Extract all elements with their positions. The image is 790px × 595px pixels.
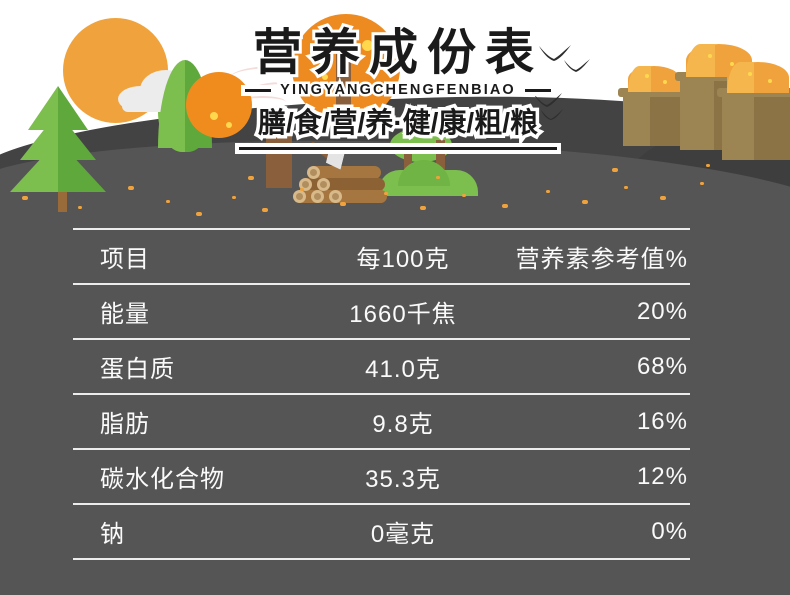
title-underline	[239, 147, 557, 150]
column-header-amount: 每100克	[303, 239, 503, 274]
row-nrv-value: 16%	[503, 408, 690, 436]
row-nrv-value: 12%	[503, 463, 690, 491]
title-slogan: 膳/食/营/养·健/康/粗/粮	[198, 101, 598, 141]
row-amount-value: 41.0克	[303, 349, 503, 384]
nutrition-table: 项目 每100克 营养素参考值% 能量 1660千焦 20% 蛋白质 41.0克…	[73, 228, 690, 560]
table-row: 碳水化合物 35.3克 12%	[73, 448, 690, 503]
row-amount-value: 0毫克	[303, 514, 503, 549]
column-header-nrv: 营养素参考值%	[503, 239, 690, 274]
title-pinyin-row: YINGYANGCHENGFENBIAO	[198, 82, 598, 98]
nutrition-facts-poster: 营养成份表 YINGYANGCHENGFENBIAO 膳/食/营/养·健/康/粗…	[0, 0, 790, 595]
row-item-label: 钠	[73, 514, 303, 549]
title-pinyin: YINGYANGCHENGFENBIAO	[280, 82, 516, 98]
row-nrv-value: 20%	[503, 298, 690, 326]
row-amount-value: 9.8克	[303, 404, 503, 439]
row-item-label: 蛋白质	[73, 349, 303, 384]
grain-silo-icon	[623, 88, 685, 146]
row-item-label: 碳水化合物	[73, 459, 303, 494]
row-item-label: 能量	[73, 294, 303, 329]
page-title: 营养成份表	[198, 22, 598, 84]
poster-title-block: 营养成份表 YINGYANGCHENGFENBIAO 膳/食/营/养·健/康/粗…	[198, 22, 598, 152]
row-nrv-value: 0%	[503, 518, 690, 546]
pine-tree-icon	[10, 140, 106, 192]
row-item-label: 脂肪	[73, 404, 303, 439]
row-nrv-value: 68%	[503, 353, 690, 381]
table-row: 钠 0毫克 0%	[73, 503, 690, 560]
row-amount-value: 35.3克	[303, 459, 503, 494]
log-pile-icon	[295, 166, 390, 202]
column-header-item: 项目	[73, 239, 303, 274]
row-amount-value: 1660千焦	[303, 294, 503, 329]
dash-left	[245, 89, 271, 92]
table-header-row: 项目 每100克 营养素参考值%	[73, 228, 690, 283]
table-row: 能量 1660千焦 20%	[73, 283, 690, 338]
grain-silo-icon	[722, 88, 790, 160]
table-row: 脂肪 9.8克 16%	[73, 393, 690, 448]
table-row: 蛋白质 41.0克 68%	[73, 338, 690, 393]
dash-right	[525, 89, 551, 92]
